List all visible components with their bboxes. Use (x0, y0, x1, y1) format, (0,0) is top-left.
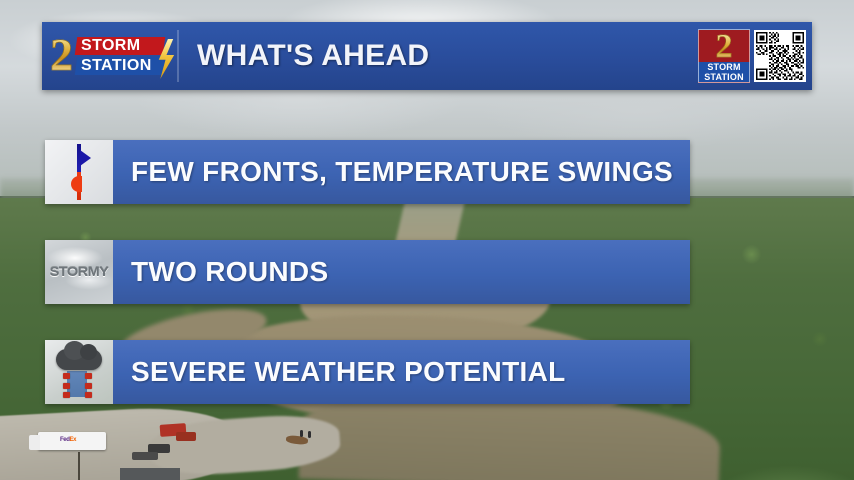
page-title: WHAT'S AHEAD (179, 22, 698, 90)
forecast-item-row[interactable]: FEW FRONTS, TEMPERATURE SWINGS (45, 140, 690, 204)
header-right-cluster: 2 STORM STATION (698, 22, 812, 90)
storm-station-logo: 2 STORM STATION (42, 22, 177, 90)
fedex-truck: FedEx (38, 432, 106, 450)
header-bar: 2 STORM STATION WHAT'S AHEAD 2 STORM STA… (42, 22, 812, 90)
person (300, 430, 303, 437)
forecast-item-label: TWO ROUNDS (131, 256, 328, 288)
forecast-item-bar: SEVERE WEATHER POTENTIAL (113, 340, 690, 404)
storm-cloud-rain-icon (45, 340, 113, 404)
forecast-item-label: SEVERE WEATHER POTENTIAL (131, 356, 566, 388)
stormy-cloud-icon: STORMY (45, 240, 113, 304)
parked-vehicle-secondary (132, 452, 158, 460)
forecast-item-row[interactable]: SEVERE WEATHER POTENTIAL (45, 340, 690, 404)
logo-storm-banner: STORM (75, 37, 166, 55)
logo-channel-number: 2 (50, 32, 73, 78)
corner-station-logo: 2 STORM STATION (698, 29, 750, 83)
building (120, 468, 180, 480)
forecast-item-bar: TWO ROUNDS (113, 240, 690, 304)
weather-front-icon (45, 140, 113, 204)
qr-code-icon[interactable] (754, 30, 806, 82)
forecast-item-row[interactable]: STORMY TWO ROUNDS (45, 240, 690, 304)
logo-station-banner: STATION (75, 57, 166, 75)
corner-logo-station: STATION (704, 73, 744, 83)
utility-pole (78, 452, 80, 480)
fedex-logo-text: FedEx (60, 437, 76, 443)
forecast-item-bar: FEW FRONTS, TEMPERATURE SWINGS (113, 140, 690, 204)
corner-logo-number: 2 (716, 30, 733, 63)
stormy-icon-text: STORMY (45, 264, 113, 279)
farm-equipment-secondary (176, 432, 196, 441)
forecast-item-label: FEW FRONTS, TEMPERATURE SWINGS (131, 156, 673, 188)
person (308, 431, 311, 438)
